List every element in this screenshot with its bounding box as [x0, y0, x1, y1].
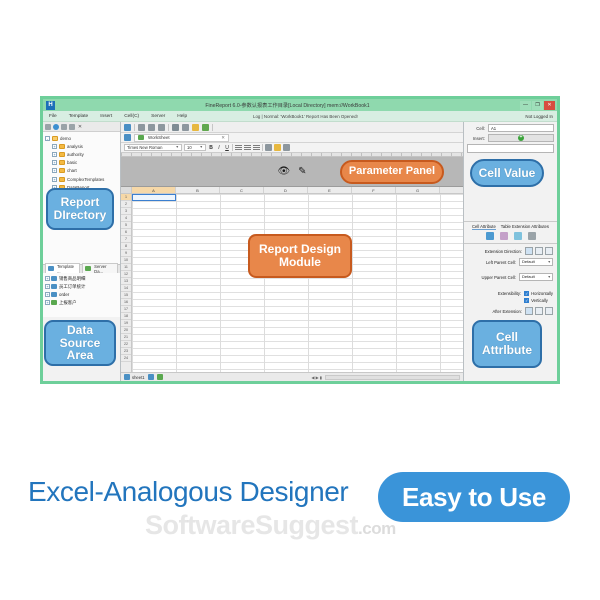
twisty-icon[interactable]: +	[52, 160, 57, 165]
pencil-icon[interactable]: ✎	[298, 167, 306, 177]
cut-icon[interactable]	[172, 124, 179, 131]
main-toolbar	[121, 122, 463, 133]
tab-worksheet-label: WorkSheet	[148, 135, 170, 140]
eye-slash-icon[interactable]: 👁	[277, 167, 290, 177]
tree-node-chart[interactable]: + chart	[45, 167, 120, 175]
close-icon[interactable]: ✕	[77, 124, 83, 130]
row-header-11[interactable]: 11	[121, 264, 131, 271]
extension-direction-label: Extension Direction:	[468, 249, 522, 254]
list-item[interactable]: + 员工订单统计	[45, 283, 118, 291]
attribute-tabs: Cell Attribute Table Extension Attribute…	[464, 221, 557, 230]
table-icon	[51, 284, 57, 289]
row-header-13[interactable]: 13	[121, 278, 131, 285]
callout-parameter-panel: Parameter Panel	[340, 160, 444, 184]
menu-item-file[interactable]: File	[43, 114, 63, 119]
worksheet-icon	[138, 135, 144, 140]
extensibility-options: ✓ Horizontally ✓ Vertically	[524, 291, 553, 303]
tree-node-demo[interactable]: - demo	[45, 134, 120, 142]
callout-label: ReportDIrectory	[54, 196, 107, 222]
grid-lines	[132, 194, 463, 372]
format-painter-icon[interactable]	[202, 124, 209, 131]
open-icon[interactable]	[138, 124, 145, 131]
cell-reference-input[interactable]: A1	[488, 124, 554, 132]
login-status[interactable]: Not Logged In	[525, 114, 553, 119]
table-icon-green	[51, 300, 57, 305]
column-header-b[interactable]: B	[176, 187, 220, 193]
menu-item-server[interactable]: Server	[145, 114, 171, 119]
extension-direction-row: Extension Direction:	[464, 244, 557, 255]
bottom-banner: Excel-Analogous Designer Easy to Use Sof…	[0, 460, 600, 550]
datasource-label: 员工订单统计	[59, 284, 85, 290]
folder-icon	[52, 136, 58, 141]
app-logo-icon: H	[46, 101, 55, 110]
row-header-14[interactable]: 14	[121, 285, 131, 292]
log-status-text: Log | Normal: 'WorkBook1' Report Has Bee…	[253, 114, 358, 119]
left-parent-row: Left Parent Cell: Default ▼	[464, 255, 557, 266]
callout-label: CellAttrlbute	[482, 331, 532, 357]
undo-icon[interactable]	[148, 124, 155, 131]
font-name-select[interactable]: Times New Roman ▼	[124, 144, 182, 152]
tree-node-authority[interactable]: + authority	[45, 150, 120, 158]
italic-button[interactable]: I	[216, 145, 222, 151]
title-bar: H FineReport 6.0-参数认报表工作目录[Local Directo…	[43, 99, 557, 111]
left-parent-value: Default	[522, 258, 535, 266]
row-header-20[interactable]: 20	[121, 327, 131, 334]
callout-report-design-module: Report DesignModule	[248, 234, 352, 278]
font-name-value: Times New Roman	[127, 144, 162, 152]
after-extension-group	[525, 307, 553, 315]
row-header-4[interactable]: 4	[121, 215, 131, 222]
tree-node-analysis[interactable]: + analysis	[45, 142, 120, 150]
attribute-icon-row	[464, 230, 557, 244]
callout-label: Report DesignModule	[259, 243, 341, 269]
tree-node-label: demo	[60, 136, 71, 141]
row-header-23[interactable]: 23	[121, 348, 131, 355]
row-header-5[interactable]: 5	[121, 222, 131, 229]
row-header-1[interactable]: 1	[121, 194, 131, 201]
callout-label: Cell Value	[479, 167, 536, 180]
after-extension-label: After Extension:	[468, 309, 522, 314]
cell-content-input[interactable]	[467, 144, 554, 153]
row-header-2[interactable]: 2	[121, 201, 131, 208]
minimize-button[interactable]: —	[520, 101, 531, 110]
grid-scroll-area: 123456789101112131415161718192021222324	[121, 194, 463, 372]
toolbar-separator	[212, 124, 213, 131]
chevron-down-icon[interactable]: ▼	[176, 144, 179, 152]
left-parent-select[interactable]: Default ▼	[519, 258, 553, 266]
row-header-24[interactable]: 24	[121, 355, 131, 362]
callout-report-directory: ReportDIrectory	[46, 188, 114, 230]
panel-icon[interactable]	[69, 124, 75, 130]
column-header-g[interactable]: G	[396, 187, 440, 193]
new-icon[interactable]	[124, 124, 131, 131]
grid-cells[interactable]	[132, 194, 463, 372]
expand-icon[interactable]: +	[45, 300, 50, 305]
close-icon[interactable]: ✕	[221, 135, 225, 141]
font-size-select[interactable]: 10 ▼	[184, 144, 206, 152]
worksheet-tab-bar: WorkSheet ✕	[121, 133, 463, 143]
align-center-icon[interactable]	[244, 145, 251, 151]
grid-status-bar: sheet1 ◀ ▶ ▮	[121, 372, 463, 381]
row-header-6[interactable]: 6	[121, 229, 131, 236]
tab-worksheet[interactable]: WorkSheet ✕	[134, 134, 229, 142]
font-size-value: 10	[187, 144, 192, 152]
datasource-tabs: Template ... Server Da...	[43, 264, 120, 273]
callout-cell-value: Cell Value	[470, 159, 544, 187]
tree-node-label: basic	[67, 160, 77, 165]
row-header-8[interactable]: 8	[121, 243, 131, 250]
twisty-icon[interactable]: +	[52, 144, 57, 149]
sheet-tab-label: sheet1	[132, 375, 145, 380]
list-item[interactable]: + order	[45, 291, 118, 299]
plus-circle-icon: +	[518, 135, 524, 141]
toolbar-separator	[134, 124, 135, 131]
none-icon[interactable]	[525, 307, 533, 315]
row-header-16[interactable]: 16	[121, 299, 131, 306]
folder-icon	[59, 177, 65, 182]
upper-parent-row: Upper Parent Cell: Default ▼	[464, 266, 557, 281]
vertical-extend-icon[interactable]	[535, 247, 543, 255]
insert-row: Insert: +	[464, 132, 557, 142]
upper-parent-label: Upper Parent Cell:	[468, 275, 516, 280]
maximize-button[interactable]: ❐	[532, 101, 543, 110]
underline-button[interactable]: U	[224, 145, 230, 151]
cell-label: Cell:	[467, 126, 485, 131]
fill-color-icon[interactable]	[274, 144, 281, 151]
datasource-list[interactable]: + 销售商品明细 + 员工订单统计 + order + 上报客户	[43, 273, 120, 317]
folder-icon	[59, 152, 65, 157]
after-extension-row: After Extension:	[464, 303, 557, 315]
twisty-icon[interactable]: -	[45, 136, 50, 141]
align-right-icon[interactable]	[253, 145, 260, 151]
row-header-7[interactable]: 7	[121, 236, 131, 243]
format-toolbar: Times New Roman ▼ 10 ▼ B I U	[121, 143, 463, 153]
row-header-18[interactable]: 18	[121, 313, 131, 320]
twisty-icon[interactable]: +	[52, 152, 57, 157]
datasource-label: order	[59, 292, 69, 297]
cell-reference-row: Cell: A1	[464, 122, 557, 132]
table-icon	[51, 292, 57, 297]
border-icon[interactable]	[265, 144, 272, 151]
grid-corner-cell[interactable]	[121, 187, 132, 193]
left-parent-label: Left Parent Cell:	[468, 260, 516, 265]
paste-icon[interactable]	[192, 124, 199, 131]
toolbar-separator	[232, 144, 233, 151]
insert-button[interactable]: +	[488, 134, 554, 142]
table-icon	[51, 276, 57, 281]
watermark-domain: .com	[358, 519, 396, 538]
grid-icon[interactable]	[61, 124, 67, 130]
row-header-3[interactable]: 3	[121, 208, 131, 215]
column-header-row: A B C D E F G	[121, 187, 463, 194]
checkbox-label: Horizontally	[531, 291, 553, 296]
callout-cell-attribute: CellAttrlbute	[472, 320, 542, 368]
report-design-grid: A B C D E F G 12345678910111213141516171…	[121, 187, 463, 381]
tree-node-complextemplates[interactable]: + ComplexTemplates	[45, 175, 120, 183]
left-panel-toolbar: ✕	[43, 122, 120, 132]
chevron-down-icon[interactable]: ▼	[200, 144, 203, 152]
copy-icon[interactable]	[182, 124, 189, 131]
sheet-nav-buttons[interactable]: ◀ ▶ ▮	[311, 375, 322, 380]
down-icon[interactable]	[545, 307, 553, 315]
font-color-icon[interactable]	[283, 144, 290, 151]
row-header-column: 123456789101112131415161718192021222324	[121, 194, 132, 372]
template-icon	[48, 266, 54, 271]
horizontal-scrollbar[interactable]	[325, 375, 460, 380]
column-header-d[interactable]: D	[264, 187, 308, 193]
upper-parent-select[interactable]: Default ▼	[519, 273, 553, 281]
save-icon[interactable]	[124, 134, 131, 141]
server-icon	[85, 266, 91, 271]
checkbox-horizontally[interactable]: ✓ Horizontally	[524, 291, 553, 296]
menu-item-cell[interactable]: Cell(C)	[118, 114, 145, 119]
callout-data-source-area: Data SourceArea	[44, 320, 116, 366]
row-header-19[interactable]: 19	[121, 320, 131, 327]
datasource-label: 上报客户	[59, 300, 77, 306]
add-sheet-icon[interactable]	[148, 374, 154, 380]
menu-item-template[interactable]: Template	[63, 114, 94, 119]
extension-direction-group	[525, 247, 553, 255]
extensibility-row: Extensibility: ✓ Horizontally ✓ Vertical…	[464, 281, 557, 303]
column-header-f[interactable]: F	[352, 187, 396, 193]
close-button[interactable]: ✕	[544, 101, 555, 110]
active-cell-a1[interactable]	[132, 194, 176, 201]
refresh-icon[interactable]	[53, 124, 59, 130]
twisty-icon[interactable]: +	[52, 168, 57, 173]
tree-node-basic[interactable]: + basic	[45, 159, 120, 167]
upper-parent-value: Default	[522, 273, 535, 281]
menu-item-insert[interactable]: Insert	[94, 114, 118, 119]
chevron-down-icon[interactable]: ▼	[548, 258, 552, 266]
redo-icon[interactable]	[158, 124, 165, 131]
row-header-22[interactable]: 22	[121, 341, 131, 348]
toolbar-separator	[168, 124, 169, 131]
window-title: FineReport 6.0-参数认报表工作目录[Local Directory…	[55, 102, 520, 109]
column-header-e[interactable]: E	[308, 187, 352, 193]
row-header-21[interactable]: 21	[121, 334, 131, 341]
sheet-icon	[124, 374, 130, 380]
window-controls: — ❐ ✕	[520, 101, 555, 110]
row-header-15[interactable]: 15	[121, 292, 131, 299]
menu-bar: File Template Insert Cell(C) Server Help…	[43, 111, 557, 122]
style-icon[interactable]	[514, 232, 522, 240]
watermark-text: SoftwareSuggest	[145, 510, 358, 540]
sheet-tab-sheet1[interactable]: sheet1	[124, 374, 145, 380]
extensibility-label: Extensibility:	[468, 291, 521, 296]
checkbox-icon: ✓	[524, 291, 529, 296]
list-item[interactable]: + 上报客户	[45, 299, 118, 307]
watermark: SoftwareSuggest.com	[145, 510, 396, 541]
up-icon[interactable]	[535, 307, 543, 315]
tree-node-label: authority	[67, 152, 84, 157]
banner-title: Excel-Analogous Designer	[28, 476, 348, 508]
align-left-icon[interactable]	[235, 145, 242, 151]
expand-icon[interactable]: +	[45, 284, 50, 289]
horizontal-extend-icon[interactable]	[545, 247, 553, 255]
bold-button[interactable]: B	[208, 145, 214, 151]
list-icon[interactable]	[45, 124, 51, 130]
cell-element-icon[interactable]	[486, 232, 494, 240]
other-icon[interactable]	[528, 232, 536, 240]
expand-icon[interactable]	[500, 232, 508, 240]
callout-label: Data SourceArea	[46, 324, 114, 363]
list-item[interactable]: + 销售商品明细	[45, 275, 118, 283]
insert-label: Insert:	[467, 136, 485, 141]
toolbar-separator	[262, 144, 263, 151]
column-header-a[interactable]: A	[132, 187, 176, 193]
row-header-9[interactable]: 9	[121, 250, 131, 257]
column-header-c[interactable]: C	[220, 187, 264, 193]
datasource-label: 销售商品明细	[59, 276, 85, 282]
chevron-down-icon[interactable]: ▼	[548, 273, 552, 281]
expand-icon[interactable]: +	[45, 292, 50, 297]
row-header-12[interactable]: 12	[121, 271, 131, 278]
row-header-10[interactable]: 10	[121, 257, 131, 264]
callout-label: Parameter Panel	[349, 166, 435, 178]
folder-icon	[59, 160, 65, 165]
expand-icon[interactable]: +	[45, 276, 50, 281]
row-header-17[interactable]: 17	[121, 306, 131, 313]
folder-icon	[59, 144, 65, 149]
menu-item-help[interactable]: Help	[171, 114, 193, 119]
sheet-options-icon[interactable]	[157, 374, 163, 380]
twisty-icon[interactable]: +	[52, 177, 57, 182]
folder-icon	[59, 168, 65, 173]
tree-node-label: chart	[67, 168, 77, 173]
tree-node-label: analysis	[67, 144, 83, 149]
tree-node-label: ComplexTemplates	[67, 177, 104, 182]
no-extend-icon[interactable]	[525, 247, 533, 255]
banner-pill-easy-to-use: Easy to Use	[378, 472, 570, 522]
